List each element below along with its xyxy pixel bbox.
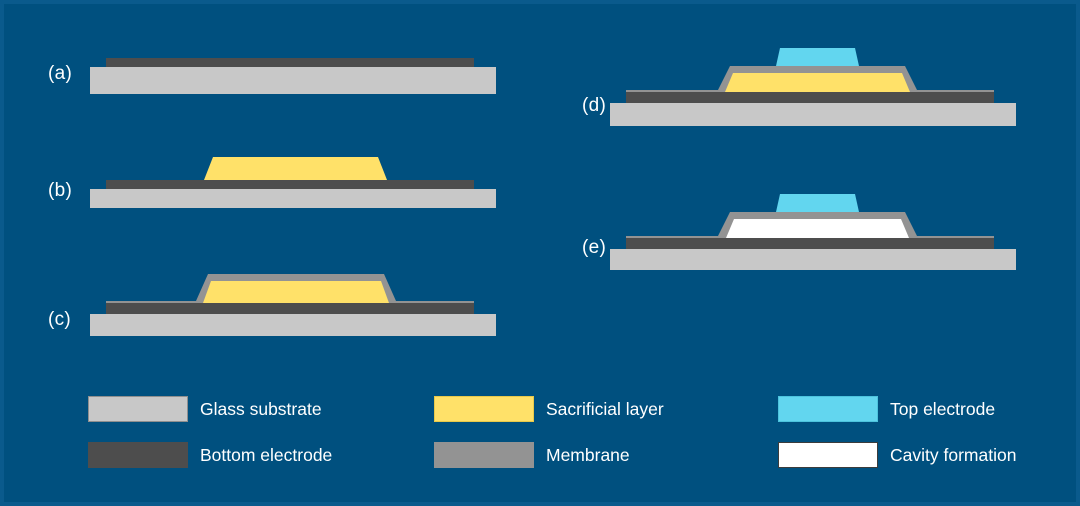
panel-e: (e)	[582, 190, 1042, 270]
layer-sacrificial-layer	[203, 281, 389, 303]
layer-sacrificial-layer	[725, 73, 910, 92]
legend-label-membrane: Membrane	[546, 441, 630, 469]
legend-swatch-glass-substrate	[88, 396, 188, 422]
legend-label-glass-substrate: Glass substrate	[200, 395, 322, 423]
layer-glass-substrate	[90, 314, 496, 336]
panel-c-diagram	[48, 266, 518, 338]
legend: Glass substrate Bottom electrode Sacrifi…	[4, 392, 1080, 482]
layer-bottom-electrode	[106, 180, 474, 189]
layer-bottom-electrode	[626, 238, 994, 249]
panel-e-diagram	[582, 190, 1042, 270]
process-flow-figure: (a) (b) (c) (d)	[0, 0, 1080, 506]
layer-bottom-electrode	[626, 92, 994, 103]
legend-label-bottom-electrode: Bottom electrode	[200, 441, 332, 469]
legend-label-top-electrode: Top electrode	[890, 395, 995, 423]
panel-a: (a)	[48, 48, 518, 98]
panel-a-diagram	[48, 48, 518, 98]
layer-bottom-electrode	[106, 303, 474, 314]
legend-swatch-cavity-formation	[778, 442, 878, 468]
layer-top-electrode	[776, 48, 859, 66]
legend-label-cavity-formation: Cavity formation	[890, 441, 1016, 469]
legend-swatch-top-electrode	[778, 396, 878, 422]
layer-glass-substrate	[610, 103, 1016, 126]
legend-swatch-sacrificial-layer	[434, 396, 534, 422]
panel-b-diagram	[48, 149, 518, 211]
panel-d-diagram	[582, 42, 1042, 128]
layer-top-electrode	[776, 194, 859, 212]
layer-sacrificial-layer	[204, 157, 387, 180]
layer-cavity-formation	[726, 219, 909, 238]
panel-c: (c)	[48, 266, 518, 338]
legend-label-sacrificial-layer: Sacrificial layer	[546, 395, 664, 423]
panel-d: (d)	[582, 42, 1042, 128]
legend-swatch-membrane	[434, 442, 534, 468]
panel-b: (b)	[48, 149, 518, 211]
legend-swatch-bottom-electrode	[88, 442, 188, 468]
layer-glass-substrate	[90, 189, 496, 208]
layer-glass-substrate	[90, 67, 496, 94]
layer-bottom-electrode	[106, 58, 474, 67]
layer-glass-substrate	[610, 249, 1016, 270]
